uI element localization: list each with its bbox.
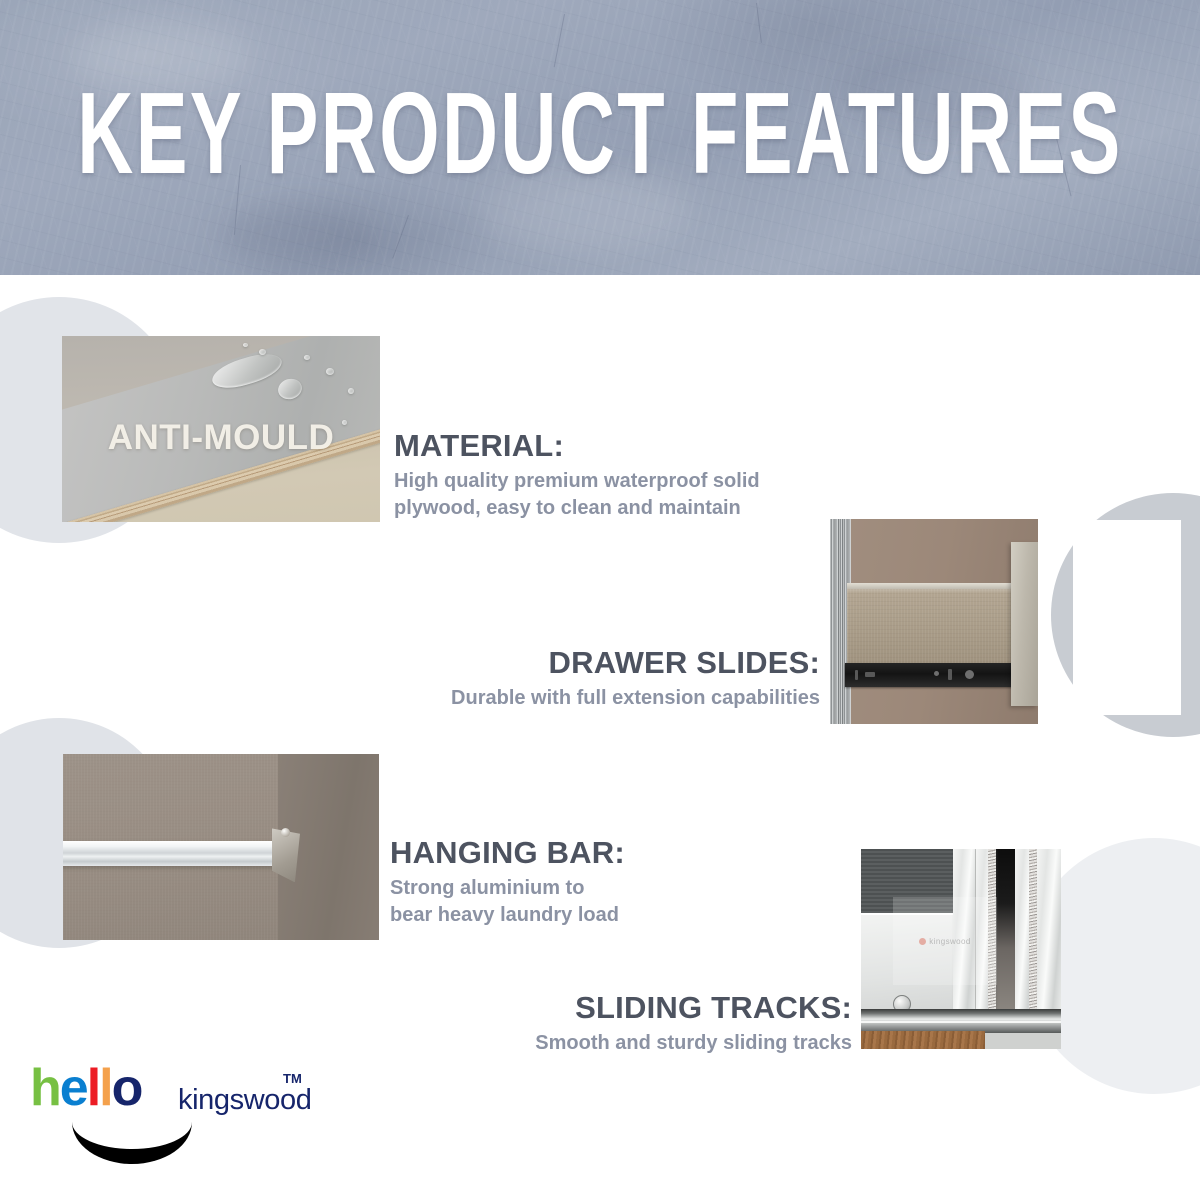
watermark-text: kingswood — [929, 937, 970, 946]
rail-detail — [965, 670, 974, 679]
water-droplet — [304, 355, 310, 360]
logo-smile-icon — [72, 1120, 192, 1164]
header-banner: KEY PRODUCT FEATURES — [0, 0, 1200, 275]
logo-letter-h: h — [30, 1062, 60, 1114]
feature-text-hanging-bar: HANGING BAR: Strong aluminium to bear he… — [390, 835, 625, 930]
logo-brand-name: kingswood — [178, 1084, 311, 1117]
drawer-front-panel — [1011, 542, 1038, 706]
brand-logo: hello kingswood TM — [30, 1062, 320, 1162]
logo-letter-e: e — [60, 1062, 87, 1114]
logo-hello-wordmark: hello — [30, 1062, 141, 1114]
feature-body-material: High quality premium waterproof solid pl… — [394, 468, 760, 523]
rail-detail — [855, 670, 858, 680]
feature-body-sliding-tracks: Smooth and sturdy sliding tracks — [452, 1030, 852, 1058]
feature-heading-drawer-slides: DRAWER SLIDES: — [378, 645, 820, 682]
drawer-slide-photo — [830, 519, 1038, 724]
anti-mould-overlay-label: ANTI-MOULD — [62, 418, 380, 458]
logo-letter-o: o — [112, 1062, 142, 1114]
photo-watermark: kingswood — [893, 897, 997, 985]
rail-detail — [934, 671, 939, 676]
feature-heading-hanging-bar: HANGING BAR: — [390, 835, 625, 872]
feature-heading-sliding-tracks: SLIDING TRACKS: — [452, 990, 852, 1027]
logo-trademark-symbol: TM — [283, 1071, 302, 1086]
feature-heading-material: MATERIAL: — [394, 428, 760, 465]
wooden-base-trim — [861, 1031, 985, 1049]
sliding-track-photo: kingswood — [861, 849, 1061, 1049]
logo-letter-l-first: l — [87, 1062, 99, 1114]
feature-body-hanging-bar: Strong aluminium to bear heavy laundry l… — [390, 875, 625, 930]
aluminium-hanging-rod — [63, 841, 287, 865]
drawer-box-side — [847, 589, 1022, 669]
sliding-door-panel — [1037, 849, 1061, 1009]
plywood-sheets-photo: ANTI-MOULD — [62, 336, 380, 522]
hanging-bar-photo — [63, 754, 379, 940]
rail-detail — [865, 672, 875, 677]
door-gap-shadow — [996, 849, 1015, 1009]
watermark-dot — [919, 938, 926, 945]
rail-detail — [948, 669, 952, 680]
rail-highlight-line — [861, 1021, 1061, 1023]
water-droplet — [326, 368, 334, 375]
feature-text-sliding-tracks: SLIDING TRACKS: Smooth and sturdy slidin… — [452, 990, 852, 1057]
feature-body-drawer-slides: Durable with full extension capabilities — [378, 685, 820, 713]
page-title: KEY PRODUCT FEATURES — [120, 0, 1080, 275]
logo-letter-l-second: l — [99, 1062, 111, 1114]
feature-text-material: MATERIAL: High quality premium waterproo… — [394, 428, 760, 523]
decor-circle-cutout — [1073, 520, 1181, 715]
feature-text-drawer-slides: DRAWER SLIDES: Durable with full extensi… — [378, 645, 820, 712]
drawer-slide-rail — [845, 663, 1018, 688]
